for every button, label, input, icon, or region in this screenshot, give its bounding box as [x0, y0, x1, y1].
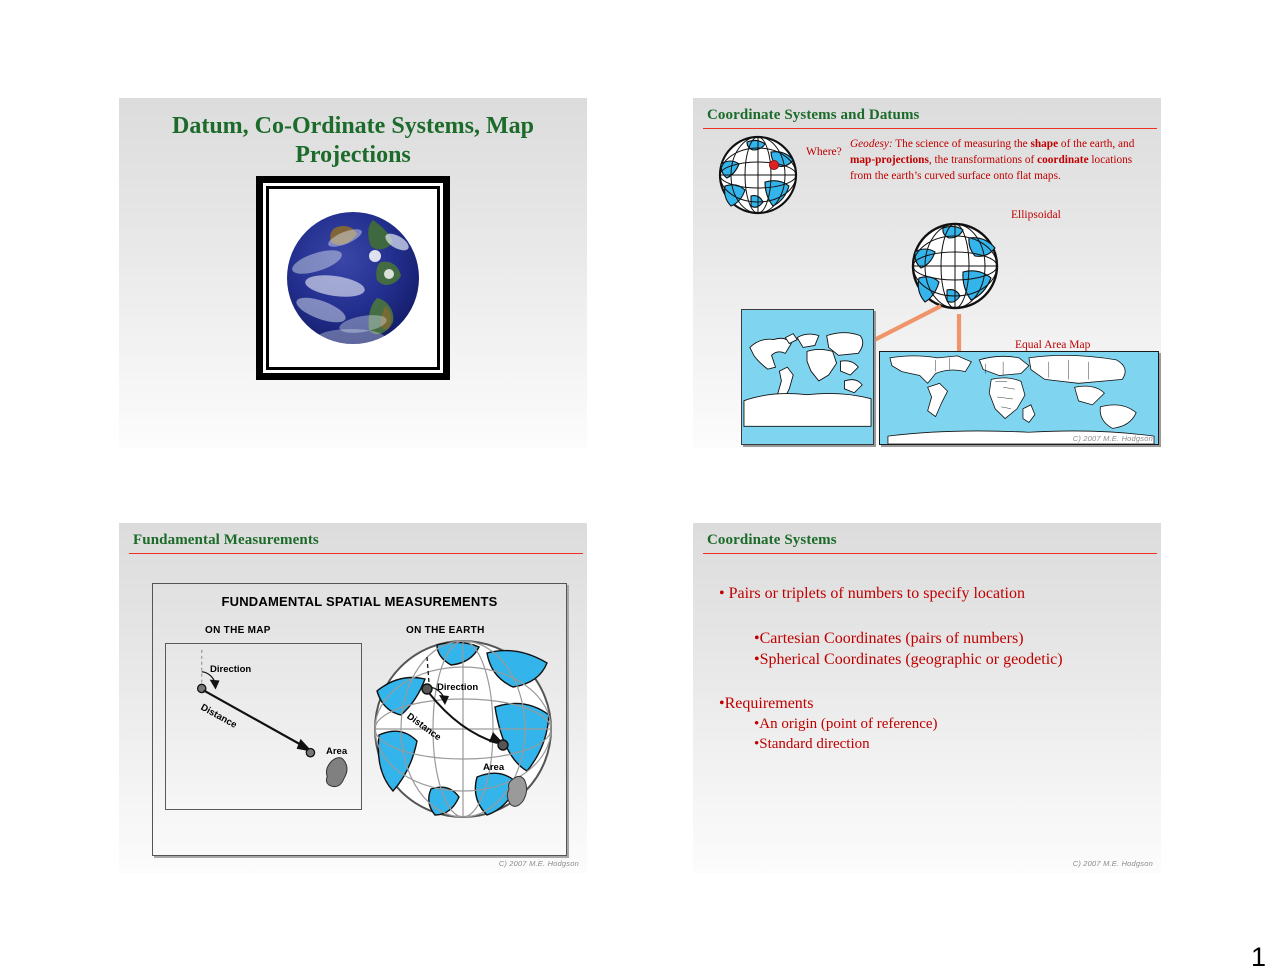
geodesy-line1c: of the earth,: [1058, 138, 1115, 150]
globe-measurements-icon: [371, 639, 556, 819]
slide-header-title: Fundamental Measurements: [133, 532, 579, 549]
label-direction-globe: Direction: [437, 682, 478, 693]
geodesy-line1a: The science of measuring the: [893, 138, 1031, 150]
globe-ellipsoidal-icon: [909, 220, 1001, 312]
geodesy-definition: Geodesy: The science of measuring the sh…: [850, 136, 1155, 184]
label-equal-area-map: Equal Area Map: [1015, 339, 1090, 351]
bullet-pairs-or-triplets: • Pairs or triplets of numbers to specif…: [719, 585, 1151, 603]
globe-where-icon: [717, 134, 799, 216]
world-map-square: [741, 309, 874, 445]
header-divider: [703, 128, 1157, 129]
slide-title: Datum, Co-Ordinate Systems, Map Projecti…: [119, 98, 587, 448]
bullet-requirements: •Requirements: [719, 695, 1151, 713]
header-divider: [703, 553, 1157, 554]
copyright-credit: C) 2007 M.E. Hodgson: [1073, 859, 1153, 868]
earth-photo-frame-inner-white: [263, 183, 443, 373]
where-label: Where?: [806, 146, 842, 158]
slide-header-title: Coordinate Systems: [707, 532, 1153, 549]
geodesy-line2a: and: [1118, 138, 1134, 150]
fundamental-measurements-diagram: FUNDAMENTAL SPATIAL MEASUREMENTS ON THE …: [152, 583, 567, 856]
earth-from-space-photo-icon: [277, 202, 429, 354]
diagram-subtitle-map: ON THE MAP: [205, 625, 271, 636]
copyright-credit: C) 2007 M.E. Hodgson: [499, 859, 579, 868]
bullet-list: • Pairs or triplets of numbers to specif…: [709, 585, 1151, 753]
geodesy-line2c: , the transformations of: [929, 154, 1037, 166]
diagram-title: FUNDAMENTAL SPATIAL MEASUREMENTS: [153, 594, 566, 609]
header-divider: [129, 553, 583, 554]
world-map-square-graphic: [742, 310, 873, 444]
earth-photo-frame: [256, 176, 450, 380]
flat-map-measurements-graphic: [166, 644, 361, 809]
bullet-standard-direction: •Standard direction: [754, 736, 1151, 753]
label-direction-map: Direction: [210, 664, 251, 675]
earth-photo-frame-inner-black: [266, 186, 440, 370]
copyright-credit: C) 2007 M.E. Hodgson: [1073, 434, 1153, 443]
bullet-spherical-coordinates: •Spherical Coordinates (geographic or ge…: [754, 651, 1151, 669]
slide-coordinate-systems-and-datums: Coordinate Systems and Datums Where? Geo…: [693, 98, 1161, 448]
geodesy-mapproj-bold: map-projections: [850, 154, 929, 166]
geodesy-shape-bold: shape: [1030, 138, 1058, 150]
world-map-equal-area-graphic: [880, 352, 1158, 444]
geodesy-coordinate-bold: coordinate: [1037, 154, 1088, 166]
label-area-globe: Area: [483, 762, 504, 773]
diagram-subtitle-earth: ON THE EARTH: [406, 625, 485, 636]
slide-coordinate-systems: Coordinate Systems • Pairs or triplets o…: [693, 523, 1161, 873]
page-number: 1: [1251, 942, 1266, 973]
slide-header-title: Coordinate Systems and Datums: [707, 107, 1153, 124]
world-map-equal-area: [879, 351, 1159, 445]
slide-fundamental-measurements: Fundamental Measurements FUNDAMENTAL SPA…: [119, 523, 587, 873]
geodesy-term: Geodesy:: [850, 138, 893, 150]
label-area-map: Area: [326, 746, 347, 757]
flat-map-panel: Direction Distance Area: [165, 643, 362, 810]
bullet-cartesian-coordinates: •Cartesian Coordinates (pairs of numbers…: [754, 630, 1151, 648]
bullet-an-origin: •An origin (point of reference): [754, 716, 1151, 733]
location-marker-dot: [769, 160, 778, 169]
label-ellipsoidal: Ellipsoidal: [1011, 209, 1061, 221]
page-title: Datum, Co-Ordinate Systems, Map Projecti…: [139, 112, 567, 171]
